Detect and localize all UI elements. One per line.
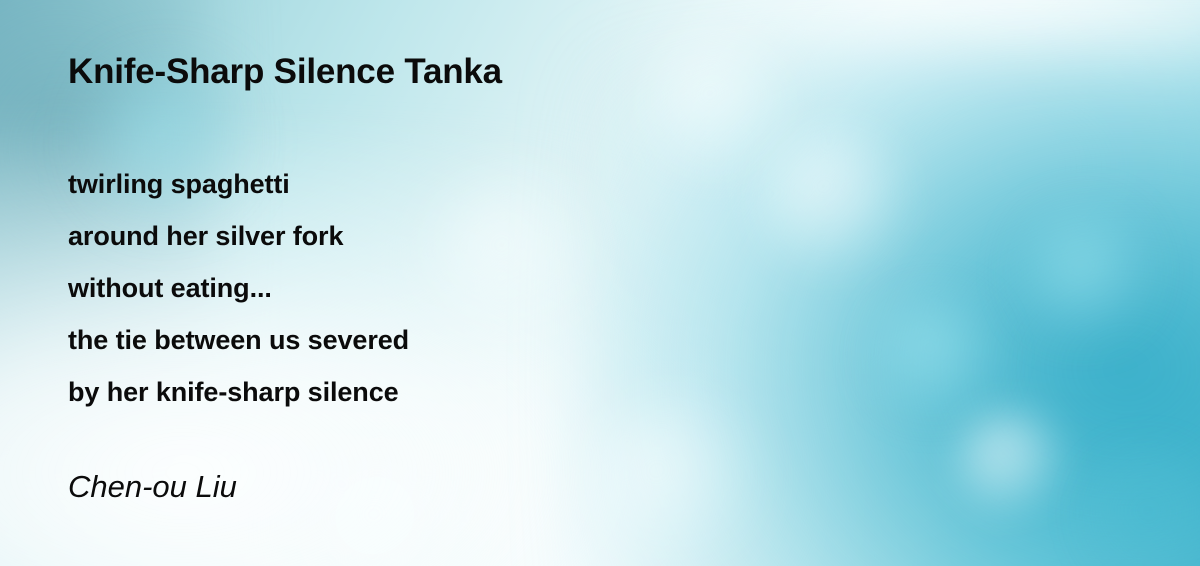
poem-body: twirling spaghetti around her silver for…	[68, 158, 828, 418]
poem-line: around her silver fork	[68, 210, 828, 262]
poem-line: by her knife-sharp silence	[68, 366, 828, 418]
poem-line: without eating...	[68, 262, 828, 314]
poem-line: the tie between us severed	[68, 314, 828, 366]
poem-image-card: Knife-Sharp Silence Tanka twirling spagh…	[0, 0, 1200, 566]
poem-author: Chen-ou Liu	[68, 466, 237, 508]
poem-title: Knife-Sharp Silence Tanka	[68, 50, 502, 94]
poem-line: twirling spaghetti	[68, 158, 828, 210]
poem-content: Knife-Sharp Silence Tanka twirling spagh…	[0, 0, 1200, 566]
